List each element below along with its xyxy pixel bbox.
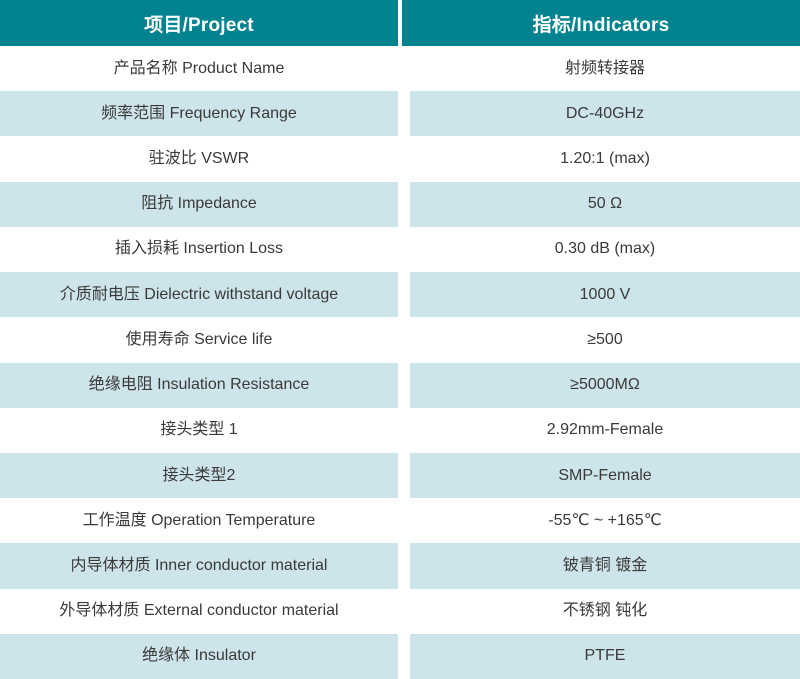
cell-project: 阻抗 Impedance xyxy=(0,182,398,227)
table-row: 绝缘体 InsulatorPTFE xyxy=(0,634,800,679)
cell-indicator: 射频转接器 xyxy=(410,46,800,91)
table-row: 工作温度 Operation Temperature-55℃ ~ +165℃ xyxy=(0,498,800,543)
cell-project: 外导体材质 External conductor material xyxy=(0,589,398,634)
cell-indicator: 2.92mm-Female xyxy=(410,408,800,453)
cell-indicator: 1000 V xyxy=(410,272,800,317)
column-divider xyxy=(398,136,410,181)
cell-project: 介质耐电压 Dielectric withstand voltage xyxy=(0,272,398,317)
cell-project: 驻波比 VSWR xyxy=(0,136,398,181)
cell-indicator: 0.30 dB (max) xyxy=(410,227,800,272)
column-divider xyxy=(398,317,410,362)
cell-project: 工作温度 Operation Temperature xyxy=(0,498,398,543)
table-row: 阻抗 Impedance50 Ω xyxy=(0,182,800,227)
cell-project: 插入损耗 Insertion Loss xyxy=(0,227,398,272)
column-divider xyxy=(398,46,410,91)
column-divider xyxy=(398,363,410,408)
cell-project: 接头类型 1 xyxy=(0,408,398,453)
cell-indicator: 铍青铜 镀金 xyxy=(410,543,800,588)
table-row: 内导体材质 Inner conductor material铍青铜 镀金 xyxy=(0,543,800,588)
column-divider xyxy=(398,182,410,227)
table-row: 绝缘电阻 Insulation Resistance≥5000MΩ xyxy=(0,363,800,408)
cell-project: 产品名称 Product Name xyxy=(0,46,398,91)
table-row: 频率范围 Frequency RangeDC-40GHz xyxy=(0,91,800,136)
cell-indicator: DC-40GHz xyxy=(410,91,800,136)
column-header-indicators: 指标/Indicators xyxy=(402,0,800,46)
cell-project: 绝缘体 Insulator xyxy=(0,634,398,679)
cell-project: 使用寿命 Service life xyxy=(0,317,398,362)
table-row: 插入损耗 Insertion Loss0.30 dB (max) xyxy=(0,227,800,272)
cell-project: 接头类型2 xyxy=(0,453,398,498)
table-row: 接头类型2SMP-Female xyxy=(0,453,800,498)
column-divider xyxy=(398,498,410,543)
cell-indicator: 1.20:1 (max) xyxy=(410,136,800,181)
cell-indicator: ≥500 xyxy=(410,317,800,362)
column-divider xyxy=(398,453,410,498)
cell-indicator: SMP-Female xyxy=(410,453,800,498)
cell-indicator: -55℃ ~ +165℃ xyxy=(410,498,800,543)
table-header-row: 项目/Project 指标/Indicators xyxy=(0,0,800,46)
column-divider xyxy=(398,634,410,679)
cell-indicator: PTFE xyxy=(410,634,800,679)
column-divider xyxy=(398,272,410,317)
column-divider xyxy=(398,227,410,272)
cell-project: 内导体材质 Inner conductor material xyxy=(0,543,398,588)
table-row: 产品名称 Product Name射频转接器 xyxy=(0,46,800,91)
cell-indicator: ≥5000MΩ xyxy=(410,363,800,408)
table-row: 外导体材质 External conductor material不锈钢 钝化 xyxy=(0,589,800,634)
table-body: 产品名称 Product Name射频转接器频率范围 Frequency Ran… xyxy=(0,46,800,679)
cell-project: 频率范围 Frequency Range xyxy=(0,91,398,136)
column-divider xyxy=(398,543,410,588)
table-row: 介质耐电压 Dielectric withstand voltage1000 V xyxy=(0,272,800,317)
column-divider xyxy=(398,589,410,634)
cell-indicator: 不锈钢 钝化 xyxy=(410,589,800,634)
column-divider xyxy=(398,91,410,136)
table-row: 接头类型 12.92mm-Female xyxy=(0,408,800,453)
specification-table: 项目/Project 指标/Indicators 产品名称 Product Na… xyxy=(0,0,800,679)
table-row: 驻波比 VSWR1.20:1 (max) xyxy=(0,136,800,181)
column-header-project: 项目/Project xyxy=(0,0,398,46)
table-row: 使用寿命 Service life≥500 xyxy=(0,317,800,362)
column-divider xyxy=(398,408,410,453)
cell-indicator: 50 Ω xyxy=(410,182,800,227)
cell-project: 绝缘电阻 Insulation Resistance xyxy=(0,363,398,408)
